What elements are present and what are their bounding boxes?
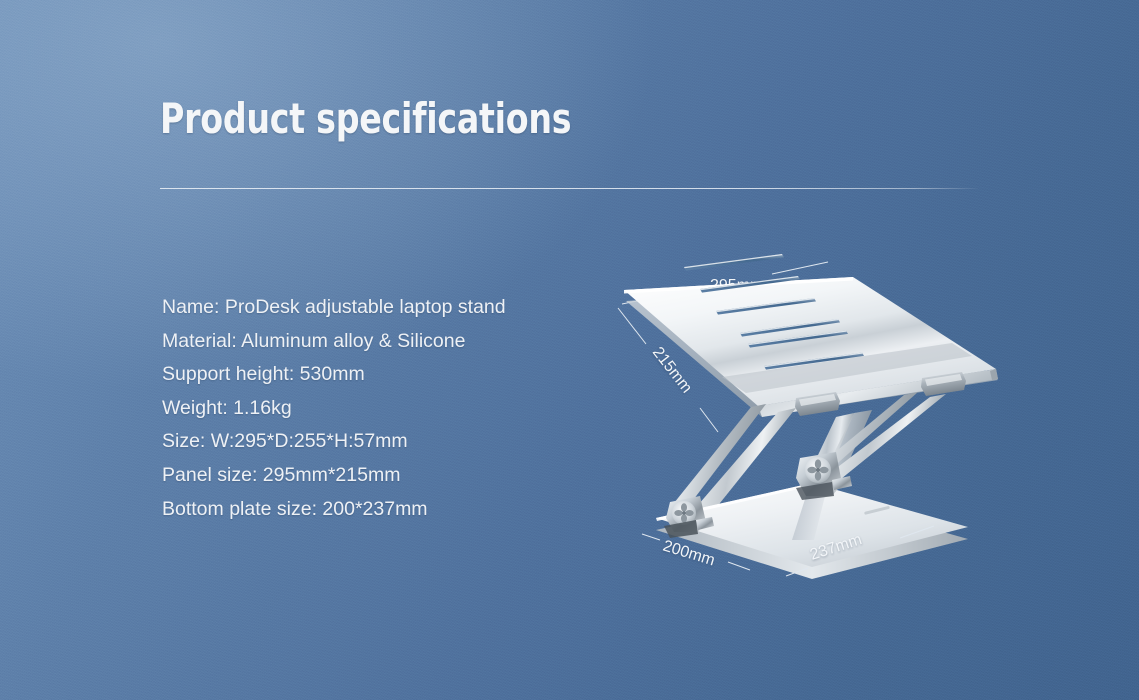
specification-list: Name: ProDesk adjustable laptop stand Ma… (162, 291, 592, 526)
spec-item-name: Name: ProDesk adjustable laptop stand (162, 291, 592, 325)
spec-item-material: Material: Aluminum alloy & Silicone (162, 325, 592, 359)
product-image-laptop-stand: 295mm 215mm (600, 240, 1020, 590)
title-divider (160, 188, 980, 189)
spec-item-panel-size: Panel size: 295mm*215mm (162, 459, 592, 493)
spec-item-weight: Weight: 1.16kg (162, 392, 592, 426)
page-title: Product specifications (160, 94, 571, 143)
spec-item-size: Size: W:295*D:255*H:57mm (162, 425, 592, 459)
spec-item-support-height: Support height: 530mm (162, 358, 592, 392)
spec-item-bottom-plate-size: Bottom plate size: 200*237mm (162, 493, 592, 527)
vent-slot (684, 254, 784, 271)
